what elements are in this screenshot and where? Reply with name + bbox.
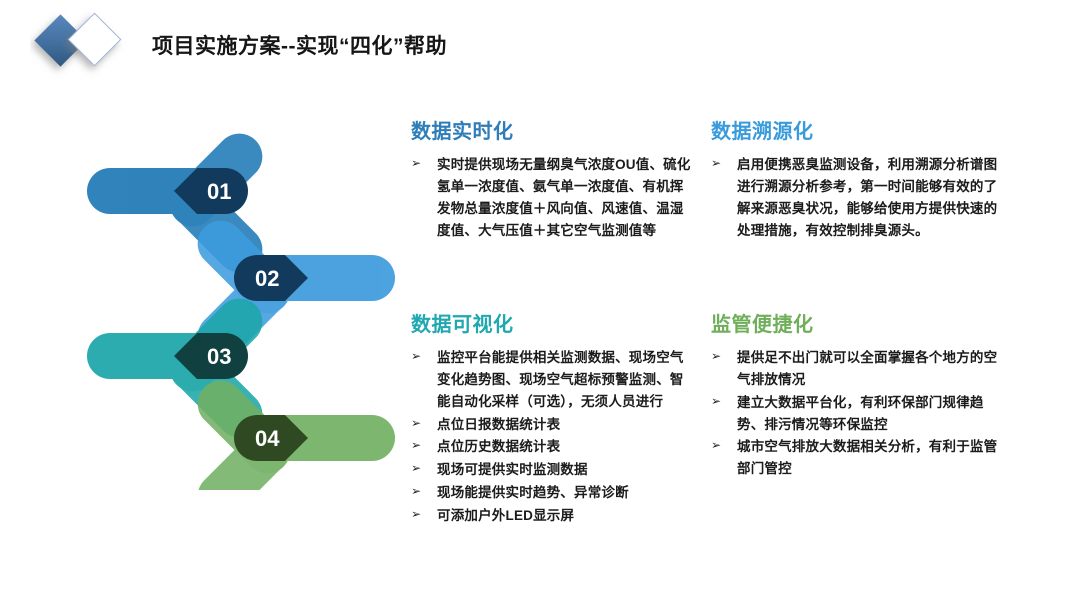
section-heading-supervision: 监管便捷化: [711, 313, 1001, 337]
section-supervision: 监管便捷化 ➢提供足不出门就可以全面掌握各个地方的空气排放情况➢建立大数据平台化…: [711, 313, 1001, 481]
bullet-list-traceability: ➢启用便携恶臭监测设备，利用溯源分析谱图进行溯源分析参考，第一时间能够有效的了解…: [711, 154, 1001, 241]
bullet-arrow-icon: ➢: [711, 436, 721, 455]
section-traceability: 数据溯源化 ➢启用便携恶臭监测设备，利用溯源分析谱图进行溯源分析参考，第一时间能…: [711, 120, 1001, 242]
bullet-item: ➢启用便携恶臭监测设备，利用溯源分析谱图进行溯源分析参考，第一时间能够有效的了解…: [711, 154, 1001, 241]
bullet-arrow-icon: ➢: [711, 154, 721, 173]
bullet-item: ➢现场可提供实时监测数据: [411, 459, 696, 481]
bullet-text: 现场能提供实时趋势、异常诊断: [437, 485, 629, 500]
bullet-item: ➢现场能提供实时趋势、异常诊断: [411, 482, 696, 504]
bullet-text: 建立大数据平台化，有利环保部门规律趋势、排污情况等环保监控: [737, 395, 984, 432]
bullet-arrow-icon: ➢: [411, 414, 421, 433]
bullet-text: 点位历史数据统计表: [437, 439, 560, 454]
bullet-item: ➢实时提供现场无量纲臭气浓度OU值、硫化氢单一浓度值、氨气单一浓度值、有机挥发物…: [411, 154, 696, 241]
bullet-item: ➢城市空气排放大数据相关分析，有利于监管部门管控: [711, 436, 1001, 480]
bullet-text: 监控平台能提供相关监测数据、现场空气变化趋势图、现场空气超标预警监测、智能自动化…: [437, 350, 684, 409]
bullet-item: ➢建立大数据平台化，有利环保部门规律趋势、排污情况等环保监控: [711, 392, 1001, 436]
bullet-text: 启用便携恶臭监测设备，利用溯源分析谱图进行溯源分析参考，第一时间能够有效的了解来…: [737, 157, 997, 238]
bullet-item: ➢监控平台能提供相关监测数据、现场空气变化趋势图、现场空气超标预警监测、智能自动…: [411, 347, 696, 413]
slide-canvas: 项目实施方案--实现“四化”帮助: [0, 0, 1080, 608]
bullet-arrow-icon: ➢: [411, 154, 421, 173]
bullet-arrow-icon: ➢: [411, 482, 421, 501]
bullet-text: 可添加户外LED显示屏: [437, 508, 574, 523]
four-step-arrow-diagram: 01 02 03 04: [85, 115, 415, 490]
section-heading-traceability: 数据溯源化: [711, 120, 1001, 144]
bullet-item: ➢提供足不出门就可以全面掌握各个地方的空气排放情况: [711, 347, 1001, 391]
section-heading-realtime: 数据实时化: [411, 120, 696, 144]
bullet-text: 城市空气排放大数据相关分析，有利于监管部门管控: [737, 439, 997, 476]
bullet-arrow-icon: ➢: [711, 392, 721, 411]
bullet-text: 实时提供现场无量纲臭气浓度OU值、硫化氢单一浓度值、氨气单一浓度值、有机挥发物总…: [437, 157, 691, 238]
step-number-01: 01: [207, 179, 231, 204]
bullet-item: ➢点位历史数据统计表: [411, 436, 696, 458]
bullet-arrow-icon: ➢: [411, 505, 421, 524]
bullet-arrow-icon: ➢: [711, 347, 721, 366]
step-number-03: 03: [207, 344, 231, 369]
section-visualization: 数据可视化 ➢监控平台能提供相关监测数据、现场空气变化趋势图、现场空气超标预警监…: [411, 313, 696, 528]
bullet-item: ➢点位日报数据统计表: [411, 414, 696, 436]
bullet-list-visualization: ➢监控平台能提供相关监测数据、现场空气变化趋势图、现场空气超标预警监测、智能自动…: [411, 347, 696, 527]
bullet-list-realtime: ➢实时提供现场无量纲臭气浓度OU值、硫化氢单一浓度值、氨气单一浓度值、有机挥发物…: [411, 154, 696, 241]
bullet-text: 点位日报数据统计表: [437, 417, 560, 432]
bullet-arrow-icon: ➢: [411, 459, 421, 478]
section-realtime: 数据实时化 ➢实时提供现场无量纲臭气浓度OU值、硫化氢单一浓度值、氨气单一浓度值…: [411, 120, 696, 242]
page-title: 项目实施方案--实现“四化”帮助: [152, 30, 447, 60]
slide-header: 项目实施方案--实现“四化”帮助: [0, 0, 1080, 96]
bullet-list-supervision: ➢提供足不出门就可以全面掌握各个地方的空气排放情况➢建立大数据平台化，有利环保部…: [711, 347, 1001, 480]
bullet-item: ➢可添加户外LED显示屏: [411, 505, 696, 527]
step-number-04: 04: [255, 426, 280, 451]
bullet-arrow-icon: ➢: [411, 436, 421, 455]
double-diamond-logo: [30, 10, 150, 86]
section-heading-visualization: 数据可视化: [411, 313, 696, 337]
bullet-text: 提供足不出门就可以全面掌握各个地方的空气排放情况: [737, 350, 997, 387]
bullet-arrow-icon: ➢: [411, 347, 421, 366]
bullet-text: 现场可提供实时监测数据: [437, 462, 588, 477]
step-number-02: 02: [255, 266, 279, 291]
